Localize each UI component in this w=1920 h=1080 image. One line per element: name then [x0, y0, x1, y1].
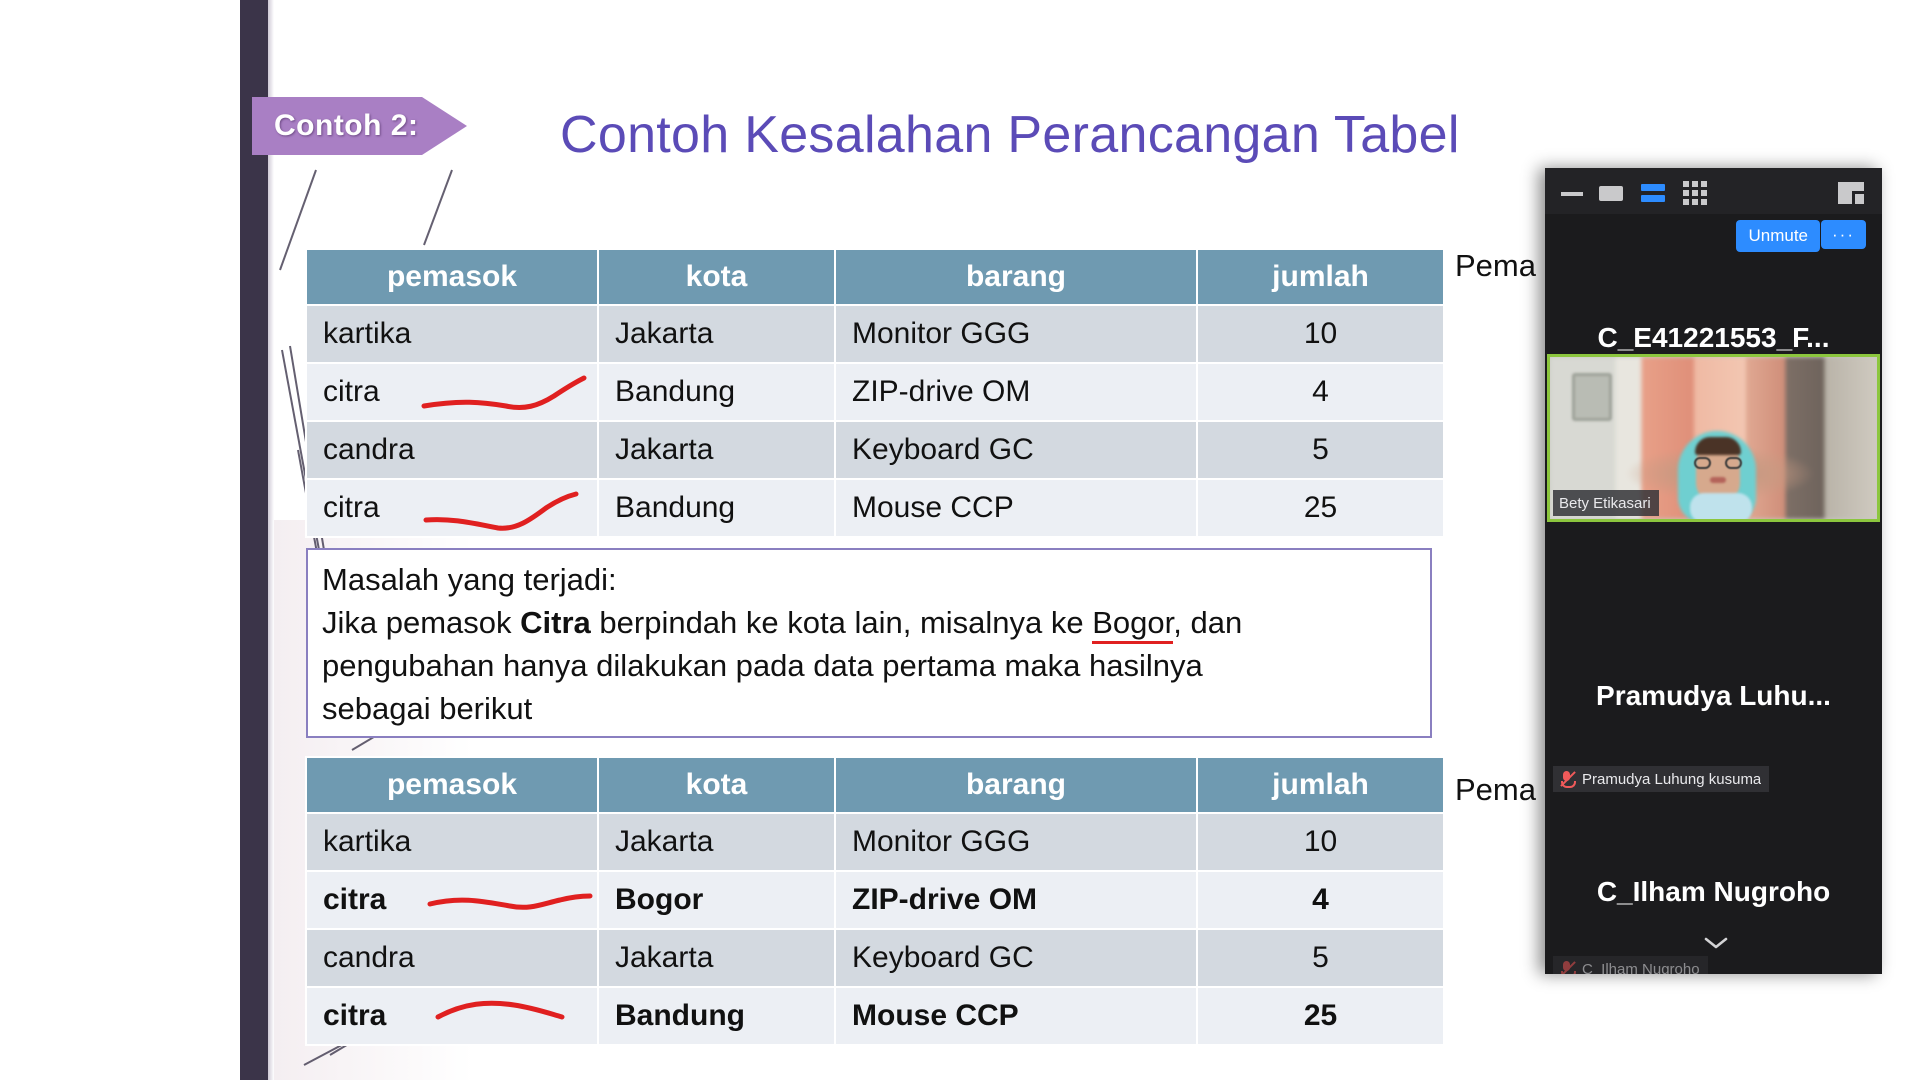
problem-line1-c: berpindah ke kota lain, misalnya ke — [591, 605, 1092, 640]
participant-namebar: Bety Etikasari — [1553, 490, 1659, 516]
unmute-button[interactable]: Unmute — [1736, 220, 1820, 252]
video-person-hair — [1695, 437, 1741, 455]
banner-contoh: Contoh 2: — [252, 97, 422, 155]
mic-muted-icon — [1559, 770, 1575, 788]
zoom-audio-controls: Unmute ··· — [1545, 214, 1882, 256]
table-modified: pemasok kota barang jumlah kartika Jakar… — [305, 756, 1445, 1046]
participant-initials-label: C_Ilham Nugroho — [1545, 876, 1882, 908]
column-header-jumlah: jumlah — [1198, 758, 1443, 812]
cell-pemasok: citra — [307, 872, 597, 928]
cell-pemasok: candra — [307, 422, 597, 478]
video-person-mask — [1690, 493, 1752, 522]
cell-barang: Mouse CCP — [836, 988, 1196, 1044]
cell-kota: Jakarta — [599, 422, 834, 478]
zoom-participants-window[interactable]: Unmute ··· C_E41221553_F... C_E41221553_… — [1545, 168, 1882, 974]
zoom-window-toolbar — [1545, 168, 1882, 214]
column-header-kota: kota — [599, 250, 834, 304]
cell-pemasok: citra — [307, 364, 597, 420]
table-row: candra Jakarta Keyboard GC 5 — [307, 930, 1443, 986]
video-wall-object — [1572, 373, 1612, 421]
cell-jumlah: 25 — [1198, 480, 1443, 536]
cell-pemasok: citra — [307, 480, 597, 536]
cell-jumlah: 25 — [1198, 988, 1443, 1044]
column-header-pemasok: pemasok — [307, 250, 597, 304]
minimize-icon[interactable] — [1561, 192, 1583, 196]
cell-pemasok: kartika — [307, 306, 597, 362]
column-header-barang: barang — [836, 758, 1196, 812]
table-row: citra Bandung ZIP-drive OM 4 — [307, 364, 1443, 420]
cell-barang: ZIP-drive OM — [836, 872, 1196, 928]
chevron-down-icon[interactable] — [1703, 936, 1729, 950]
cell-pemasok: citra — [307, 988, 597, 1044]
cell-barang: ZIP-drive OM — [836, 364, 1196, 420]
cell-jumlah: 4 — [1198, 872, 1443, 928]
cell-jumlah: 10 — [1198, 306, 1443, 362]
cell-barang: Mouse CCP — [836, 480, 1196, 536]
more-options-button[interactable]: ··· — [1821, 220, 1866, 249]
problem-line1-a: Jika pemasok — [322, 605, 520, 640]
participant-initials-label: Pramudya Luhu... — [1545, 680, 1882, 712]
table-original: pemasok kota barang jumlah kartika Jakar… — [305, 248, 1445, 538]
problem-line1-underlined-bogor: Bogor — [1092, 605, 1173, 644]
problem-line1-e: , dan — [1173, 605, 1242, 640]
participant-name: Pramudya Luhung kusuma — [1582, 771, 1761, 788]
speaker-view-icon[interactable] — [1641, 184, 1665, 202]
problem-line-1: Jika pemasok Citra berpindah ke kota lai… — [322, 601, 1416, 644]
column-header-barang: barang — [836, 250, 1196, 304]
participant-name: Bety Etikasari — [1559, 495, 1651, 512]
cell-kota: Bandung — [599, 480, 834, 536]
table-row: citra Bogor ZIP-drive OM 4 — [307, 872, 1443, 928]
problem-line1-bold-citra: Citra — [520, 605, 591, 640]
banner-label: Contoh 2: — [274, 109, 418, 143]
cell-kota: Bandung — [599, 364, 834, 420]
cell-kota: Bandung — [599, 988, 834, 1044]
participant-initials-label: C_E41221553_F... — [1545, 322, 1882, 354]
slide-letterbox-left — [0, 0, 240, 1080]
cell-kota: Bogor — [599, 872, 834, 928]
table-header-row: pemasok kota barang jumlah — [307, 250, 1443, 304]
cell-barang: Keyboard GC — [836, 422, 1196, 478]
cell-jumlah: 5 — [1198, 930, 1443, 986]
side-label-top: Pema — [1455, 248, 1536, 284]
cell-jumlah: 4 — [1198, 364, 1443, 420]
video-person-glasses — [1694, 457, 1742, 469]
table-header-row: pemasok kota barang jumlah — [307, 758, 1443, 812]
restore-icon[interactable] — [1599, 186, 1623, 201]
table-row: candra Jakarta Keyboard GC 5 — [307, 422, 1443, 478]
cell-pemasok: candra — [307, 930, 597, 986]
problem-line-3: sebagai berikut — [322, 687, 1416, 730]
participant-tile[interactable]: Pramudya Luhu... Pramudya Luhung kusuma — [1545, 608, 1882, 808]
cell-jumlah: 10 — [1198, 814, 1443, 870]
table-row: citra Bandung Mouse CCP 25 — [307, 988, 1443, 1044]
participant-name: C_Ilham Nugroho — [1582, 961, 1700, 975]
table-row: kartika Jakarta Monitor GGG 10 — [307, 306, 1443, 362]
participant-namebar: Pramudya Luhung kusuma — [1553, 766, 1769, 792]
cell-kota: Jakarta — [599, 930, 834, 986]
page-title: Contoh Kesalahan Perancangan Tabel — [560, 105, 1460, 165]
cell-barang: Keyboard GC — [836, 930, 1196, 986]
side-label-bottom: Pema — [1455, 772, 1536, 808]
gallery-view-icon[interactable] — [1683, 181, 1707, 205]
cell-kota: Jakarta — [599, 306, 834, 362]
table-row: kartika Jakarta Monitor GGG 10 — [307, 814, 1443, 870]
cell-barang: Monitor GGG — [836, 306, 1196, 362]
cell-pemasok: kartika — [307, 814, 597, 870]
video-person-mouth — [1710, 477, 1726, 483]
participant-namebar: C_Ilham Nugroho — [1553, 956, 1708, 974]
problem-heading: Masalah yang terjadi: — [322, 558, 1416, 601]
cell-jumlah: 5 — [1198, 422, 1443, 478]
mic-muted-icon — [1559, 960, 1575, 974]
popout-icon[interactable] — [1838, 182, 1864, 204]
participant-tile-active-speaker[interactable]: Bety Etikasari — [1545, 354, 1882, 522]
cell-barang: Monitor GGG — [836, 814, 1196, 870]
problem-textbox: Masalah yang terjadi: Jika pemasok Citra… — [306, 548, 1432, 738]
column-header-pemasok: pemasok — [307, 758, 597, 812]
cell-kota: Jakarta — [599, 814, 834, 870]
column-header-jumlah: jumlah — [1198, 250, 1443, 304]
column-header-kota: kota — [599, 758, 834, 812]
problem-line-2: pengubahan hanya dilakukan pada data per… — [322, 644, 1416, 687]
table-row: citra Bandung Mouse CCP 25 — [307, 480, 1443, 536]
slide-left-accent-bar — [240, 0, 268, 1080]
